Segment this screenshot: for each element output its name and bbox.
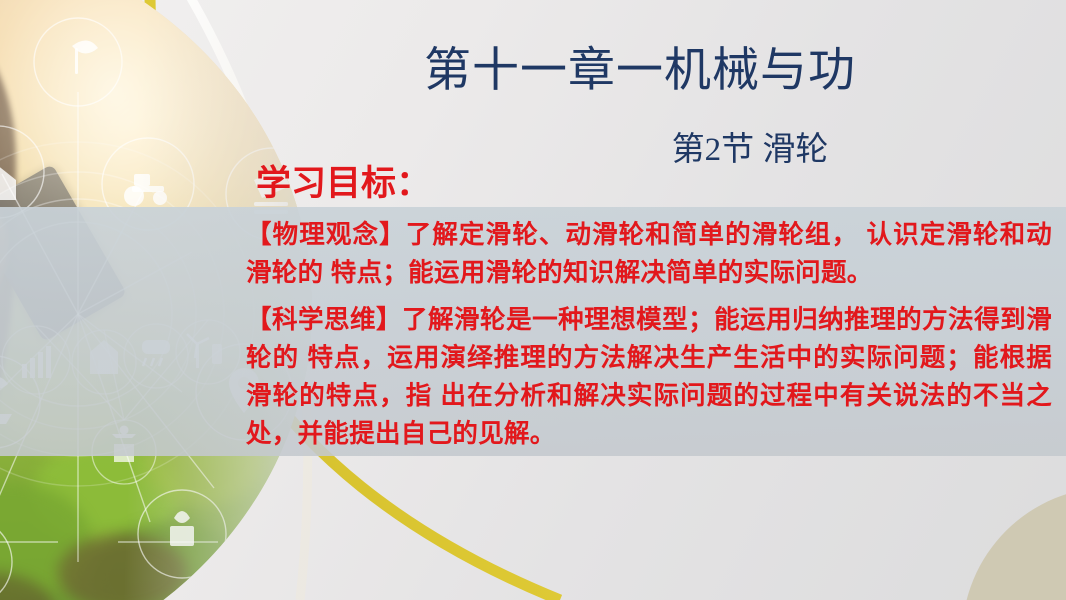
section-subtitle: 第2节 滑轮: [560, 131, 940, 171]
learning-goals-label: 学习目标：: [256, 163, 431, 205]
slide-canvas: 第十一章一机械与功 第2节 滑轮 学习目标： 【物理观念】了解定滑轮、动滑轮和简…: [0, 0, 1066, 600]
tan-corner-circle: [962, 487, 1066, 600]
objectives-list: 【物理观念】了解定滑轮、动滑轮和简单的滑轮组， 认识定滑轮和动滑轮的 特点；能运…: [246, 216, 1052, 453]
page-title: 第十一章一机械与功: [330, 45, 950, 98]
objective-paragraph: 【物理观念】了解定滑轮、动滑轮和简单的滑轮组， 认识定滑轮和动滑轮的 特点；能运…: [246, 216, 1052, 292]
objective-paragraph: 【科学思维】了解滑轮是一种理想模型；能运用归纳推理的方法得到滑轮的 特点，运用演…: [246, 301, 1052, 453]
